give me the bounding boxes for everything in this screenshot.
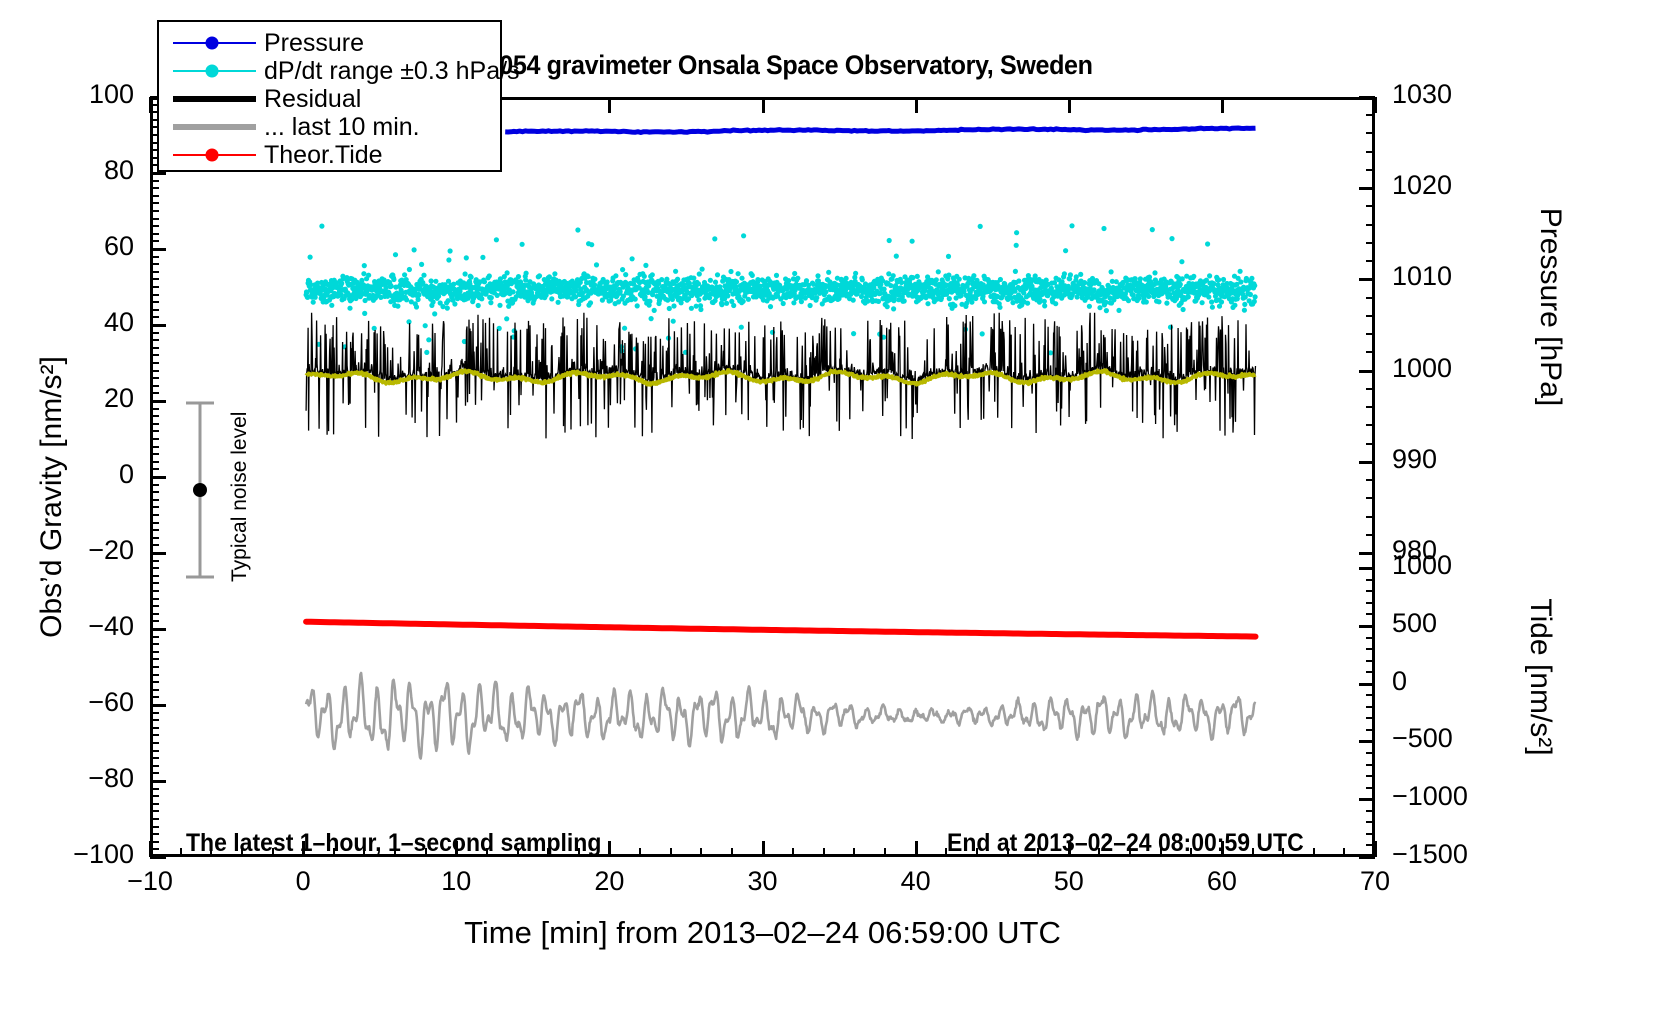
- y-tick-minor: [150, 233, 159, 235]
- tide-tick-major: [1359, 798, 1375, 801]
- y-tick-minor: [150, 385, 159, 387]
- y-tick-minor: [150, 742, 159, 744]
- y-tick-minor: [150, 833, 159, 835]
- y-tick-minor: [150, 332, 159, 334]
- pressure-tick-minor: [1366, 333, 1375, 335]
- y-tick-minor: [150, 560, 159, 562]
- tide-tick-minor: [1366, 660, 1375, 662]
- x-tick-label: 70: [1315, 866, 1435, 897]
- pressure-tick-label: 1010: [1392, 261, 1532, 292]
- y-tick-minor: [150, 666, 159, 668]
- y-tick-minor: [150, 613, 159, 615]
- pressure-tick-major: [1359, 552, 1375, 555]
- x-tick-minor: [731, 848, 733, 857]
- series-last-10-min: [306, 673, 1255, 759]
- y-tick-label: −80: [14, 763, 134, 794]
- legend-item[interactable]: Pressure: [159, 29, 500, 57]
- y-tick-minor: [150, 818, 159, 820]
- y-tick-major: [150, 856, 166, 859]
- y-tick-minor: [150, 529, 159, 531]
- x-tick-label: −10: [90, 866, 210, 897]
- y-tick-minor: [150, 499, 159, 501]
- y-tick-minor: [150, 788, 159, 790]
- y-tick-minor: [150, 757, 159, 759]
- y-tick-major: [150, 628, 166, 631]
- pressure-tick-minor: [1366, 534, 1375, 536]
- x-tick-major: [762, 841, 765, 857]
- y-tick-label: 0: [14, 459, 134, 490]
- legend-label: dP/dt range ±0.3 hPa/s: [264, 57, 520, 86]
- y-tick-minor: [150, 309, 159, 311]
- x-tick-minor: [823, 848, 825, 857]
- y-tick-label: 80: [14, 155, 134, 186]
- pressure-tick-label: 1000: [1392, 353, 1532, 384]
- y-tick-minor: [150, 810, 159, 812]
- pressure-tick-minor: [1366, 388, 1375, 390]
- pressure-tick-minor: [1366, 224, 1375, 226]
- y-tick-major: [150, 172, 166, 175]
- legend-swatch-theortide: [159, 141, 264, 169]
- y-tick-minor: [150, 453, 159, 455]
- y-tick-label: −20: [14, 535, 134, 566]
- y-tick-minor: [150, 681, 159, 683]
- x-tick-label: 50: [1009, 866, 1129, 897]
- y-tick-minor: [150, 187, 159, 189]
- pressure-tick-minor: [1366, 424, 1375, 426]
- y-tick-minor: [150, 377, 159, 379]
- pressure-tick-minor: [1366, 260, 1375, 262]
- pressure-tick-minor: [1366, 151, 1375, 153]
- y-tick-minor: [150, 446, 159, 448]
- data-canvas: [153, 100, 1372, 854]
- x-tick-minor: [670, 848, 672, 857]
- sampling-note: The latest 1–hour, 1–second sampling: [186, 829, 601, 858]
- plot-area: [150, 97, 1375, 857]
- y-tick-minor: [150, 674, 159, 676]
- tide-tick-minor: [1366, 590, 1375, 592]
- x-tick-minor: [180, 848, 182, 857]
- y-tick-minor: [150, 240, 159, 242]
- pressure-tick-label: 1030: [1392, 79, 1532, 110]
- pressure-tick-minor: [1366, 497, 1375, 499]
- tide-tick-major: [1359, 856, 1375, 859]
- tide-tick-minor: [1366, 787, 1375, 789]
- x-tick-minor: [792, 848, 794, 857]
- tide-tick-minor: [1366, 810, 1375, 812]
- tide-tick-label: −500: [1392, 723, 1532, 754]
- y-tick-major: [150, 704, 166, 707]
- x-tick-label: 60: [1162, 866, 1282, 897]
- legend-swatch-last10: [159, 113, 264, 141]
- x-tick-major-top: [1374, 97, 1377, 113]
- series-theor-tide: [306, 622, 1255, 637]
- x-tick-minor: [1343, 848, 1345, 857]
- y-tick-minor: [150, 491, 159, 493]
- y-tick-minor: [150, 689, 159, 691]
- tide-tick-minor: [1366, 637, 1375, 639]
- y-tick-minor: [150, 765, 159, 767]
- x-tick-major-top: [1221, 97, 1224, 113]
- tide-tick-minor: [1366, 729, 1375, 731]
- y-tick-minor: [150, 256, 159, 258]
- pressure-tick-minor: [1366, 114, 1375, 116]
- x-tick-major-top: [149, 97, 152, 113]
- y-tick-minor: [150, 734, 159, 736]
- y-tick-minor: [150, 294, 159, 296]
- tide-tick-minor: [1366, 648, 1375, 650]
- tide-tick-label: 0: [1392, 666, 1532, 697]
- y-tick-label: 100: [14, 79, 134, 110]
- x-tick-major: [915, 841, 918, 857]
- y-tick-label: 60: [14, 231, 134, 262]
- x-tick-major: [608, 841, 611, 857]
- tide-tick-major: [1359, 740, 1375, 743]
- pressure-tick-major: [1359, 278, 1375, 281]
- y-tick-minor: [150, 438, 159, 440]
- y-tick-minor: [150, 658, 159, 660]
- pressure-tick-minor: [1366, 315, 1375, 317]
- y-tick-minor: [150, 636, 159, 638]
- legend-item[interactable]: Theor.Tide: [159, 141, 500, 169]
- y-tick-minor: [150, 620, 159, 622]
- x-tick-minor: [700, 848, 702, 857]
- pressure-tick-minor: [1366, 479, 1375, 481]
- tide-tick-minor: [1366, 579, 1375, 581]
- y-tick-minor: [150, 468, 159, 470]
- y-tick-minor: [150, 575, 159, 577]
- y-tick-minor: [150, 225, 159, 227]
- y-tick-label: 20: [14, 383, 134, 414]
- pressure-tick-minor: [1366, 351, 1375, 353]
- legend-item[interactable]: ... last 10 min.: [159, 113, 500, 141]
- tide-tick-minor: [1366, 821, 1375, 823]
- tide-tick-minor: [1366, 694, 1375, 696]
- y-tick-minor: [150, 415, 159, 417]
- legend-swatch-dpdt: [159, 57, 264, 85]
- y-tick-minor: [150, 826, 159, 828]
- pressure-tick-label: 1020: [1392, 170, 1532, 201]
- typical-noise-level-bar: [178, 395, 238, 585]
- y-tick-minor: [150, 772, 159, 774]
- tide-tick-minor: [1366, 764, 1375, 766]
- y-tick-minor: [150, 712, 159, 714]
- pressure-tick-minor: [1366, 516, 1375, 518]
- legend-swatch-residual: [159, 85, 264, 113]
- tide-tick-major: [1359, 683, 1375, 686]
- y-tick-minor: [150, 582, 159, 584]
- y-tick-minor: [150, 643, 159, 645]
- y-tick-major: [150, 476, 166, 479]
- y-tick-minor: [150, 598, 159, 600]
- y-tick-minor: [150, 719, 159, 721]
- x-tick-label: 40: [856, 866, 976, 897]
- gravimeter-plot: SCG_054 gravimeter Onsala Space Observat…: [0, 0, 1660, 1020]
- y-tick-label: −60: [14, 687, 134, 718]
- x-tick-major-top: [915, 97, 918, 113]
- y-tick-minor: [150, 506, 159, 508]
- y-tick-minor: [150, 567, 159, 569]
- end-time-note: End at 2013–02–24 08:00:59 UTC: [947, 829, 1304, 858]
- y-tick-minor: [150, 727, 159, 729]
- tide-tick-minor: [1366, 833, 1375, 835]
- y-tick-major: [150, 552, 166, 555]
- y-tick-minor: [150, 392, 159, 394]
- pressure-tick-major: [1359, 96, 1375, 99]
- y-tick-minor: [150, 696, 159, 698]
- y-tick-minor: [150, 484, 159, 486]
- legend-label: Theor.Tide: [264, 141, 383, 170]
- pressure-tick-minor: [1366, 443, 1375, 445]
- pressure-tick-major: [1359, 370, 1375, 373]
- legend-item[interactable]: dP/dt range ±0.3 hPa/s: [159, 57, 500, 85]
- tide-tick-label: 1000: [1392, 550, 1532, 581]
- y-tick-minor: [150, 537, 159, 539]
- x-tick-label: 20: [549, 866, 669, 897]
- legend-item[interactable]: Residual: [159, 85, 500, 113]
- x-tick-major-top: [608, 97, 611, 113]
- tide-tick-minor: [1366, 717, 1375, 719]
- tide-tick-minor: [1366, 706, 1375, 708]
- pressure-tick-minor: [1366, 297, 1375, 299]
- y-tick-minor: [150, 263, 159, 265]
- x-tick-minor: [884, 848, 886, 857]
- y-tick-minor: [150, 354, 159, 356]
- y-tick-minor: [150, 339, 159, 341]
- pressure-tick-minor: [1366, 132, 1375, 134]
- pressure-tick-minor: [1366, 242, 1375, 244]
- y-tick-minor: [150, 347, 159, 349]
- legend-label: Pressure: [264, 29, 364, 58]
- y-tick-minor: [150, 195, 159, 197]
- y-tick-minor: [150, 370, 159, 372]
- y-tick-label: −40: [14, 611, 134, 642]
- x-tick-label: 10: [396, 866, 516, 897]
- pressure-tick-major: [1359, 461, 1375, 464]
- y-tick-minor: [150, 301, 159, 303]
- pressure-tick-label: 990: [1392, 444, 1532, 475]
- y-tick-minor: [150, 180, 159, 182]
- pressure-tick-minor: [1366, 406, 1375, 408]
- x-tick-major-top: [762, 97, 765, 113]
- y-tick-minor: [150, 514, 159, 516]
- x-tick-major: [149, 841, 152, 857]
- y-tick-minor: [150, 461, 159, 463]
- x-tick-minor: [1313, 848, 1315, 857]
- y-tick-major: [150, 248, 166, 251]
- pressure-tick-minor: [1366, 169, 1375, 171]
- x-tick-major: [1374, 841, 1377, 857]
- y-tick-minor: [150, 362, 159, 364]
- tide-tick-minor: [1366, 602, 1375, 604]
- pressure-tick-minor: [1366, 205, 1375, 207]
- legend: Pressure dP/dt range ±0.3 hPa/s Residual…: [157, 20, 502, 172]
- y-tick-minor: [150, 316, 159, 318]
- y-tick-minor: [150, 218, 159, 220]
- tide-tick-label: −1000: [1392, 781, 1532, 812]
- tide-tick-major: [1359, 567, 1375, 570]
- x-axis-title: Time [min] from 2013–02–24 06:59:00 UTC: [150, 915, 1375, 951]
- tide-tick-minor: [1366, 775, 1375, 777]
- tide-tick-minor: [1366, 752, 1375, 754]
- y-tick-minor: [150, 430, 159, 432]
- y-tick-minor: [150, 750, 159, 752]
- legend-label: ... last 10 min.: [264, 113, 420, 142]
- y-tick-minor: [150, 522, 159, 524]
- y-tick-minor: [150, 544, 159, 546]
- y-tick-minor: [150, 605, 159, 607]
- y-tick-minor: [150, 408, 159, 410]
- y-tick-minor: [150, 590, 159, 592]
- x-tick-label: 0: [243, 866, 363, 897]
- tide-tick-label: 500: [1392, 608, 1532, 639]
- y-tick-minor: [150, 803, 159, 805]
- y-axis-pressure-title: Pressure [hPa]: [1533, 127, 1567, 487]
- y-tick-minor: [150, 651, 159, 653]
- y-tick-minor: [150, 202, 159, 204]
- y-tick-major: [150, 780, 166, 783]
- tide-tick-major: [1359, 625, 1375, 628]
- y-tick-minor: [150, 286, 159, 288]
- y-tick-minor: [150, 278, 159, 280]
- y-tick-minor: [150, 271, 159, 273]
- legend-swatch-pressure: [159, 29, 264, 57]
- y-tick-minor: [150, 423, 159, 425]
- series-pressure: [505, 128, 1255, 133]
- x-tick-label: 30: [703, 866, 823, 897]
- x-tick-major-top: [1068, 97, 1071, 113]
- y-tick-label: 40: [14, 307, 134, 338]
- y-tick-major: [150, 400, 166, 403]
- tide-tick-minor: [1366, 613, 1375, 615]
- y-tick-minor: [150, 795, 159, 797]
- x-tick-minor: [853, 848, 855, 857]
- y-tick-major: [150, 324, 166, 327]
- tide-tick-minor: [1366, 671, 1375, 673]
- y-tick-minor: [150, 210, 159, 212]
- legend-label: Residual: [264, 85, 361, 114]
- pressure-tick-major: [1359, 187, 1375, 190]
- x-tick-minor: [639, 848, 641, 857]
